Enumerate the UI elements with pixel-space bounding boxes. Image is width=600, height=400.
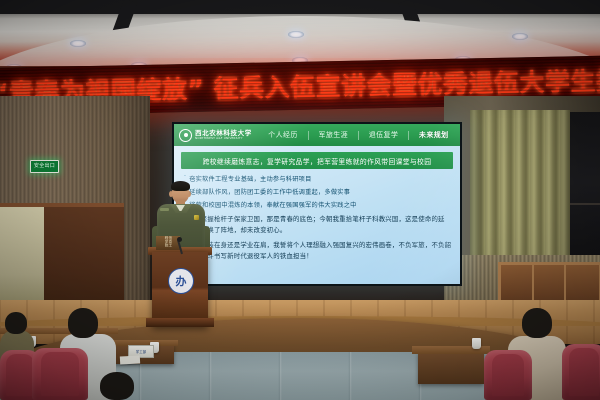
- auditorium-seat: [484, 350, 532, 400]
- ceiling-downlight-icon: [70, 40, 86, 47]
- list-item: · 将营和校园中混炼的本领，奉献在强国强军的伟大实践之中: [184, 200, 453, 209]
- slide-tab-return[interactable]: 退伍复学: [366, 130, 402, 140]
- nav-divider: [308, 131, 309, 140]
- nav-divider: [358, 131, 359, 140]
- speaker-rank-insignia: [160, 208, 169, 211]
- audience-member-head: [5, 312, 27, 334]
- slide-nav-items: 个人经历 军旅生涯 退伍复学 未来规划: [262, 130, 455, 140]
- podium-base: [146, 318, 214, 327]
- water-cup: [472, 338, 481, 349]
- podium-nameplate-text: 信息工程学院: [164, 236, 172, 250]
- list-item: · 夿实软件工程专业基础，主动参与科研项目: [184, 174, 453, 183]
- bullet-text: 延续部队作风，团防团工委的工作中低调重起，多做实事: [189, 187, 350, 196]
- slide-tab-personal[interactable]: 个人经历: [265, 130, 301, 140]
- list-item: · 延续部队作风，团防团工委的工作中低调重起，多做实事: [184, 187, 453, 196]
- slide-title: 跨校继续磨炼意志，复学研究品学，把军营里练就的作风带回课堂与校园: [181, 152, 453, 169]
- slide-paragraph-2: 无论是戎装在身还是学业在肩，我誓将个人理想融入强国复兴的宏伟画卷，不负军旅，不负…: [181, 240, 453, 261]
- slide-paragraph-1: 昔日我紧握枪杆子保家卫国，那是青春的底色；今朝我重拾笔杆子科教兴国，这是使命的延…: [181, 214, 453, 235]
- bullet-text: 夿实软件工程专业基础，主动参与科研项目: [189, 174, 311, 183]
- slide-content: 跨校继续磨炼意志，复学研究品学，把军营里练就的作风带回课堂与校园 · 夿实软件工…: [174, 146, 460, 261]
- university-seal-icon: [179, 129, 192, 142]
- projection-screen: 西北农林科技大学 NORTHWEST A&F UNIVERSITY 个人经历 军…: [172, 122, 462, 286]
- nav-divider: [408, 131, 409, 140]
- audience-member-head: [100, 372, 134, 400]
- emergency-exit-icon: 安全出口: [30, 160, 59, 173]
- ceiling-downlight-icon: [288, 31, 304, 38]
- desk-papers: [120, 355, 140, 364]
- podium-emblem-icon: 办: [168, 268, 194, 294]
- microphone-icon: [177, 237, 182, 242]
- exit-sign-label: 安全出口: [34, 164, 55, 169]
- bullet-text: 将营和校园中混炼的本领，奉献在强国强军的伟大实践之中: [189, 200, 356, 209]
- speaker-chest-badge: [194, 215, 199, 220]
- presentation-slide: 西北农林科技大学 NORTHWEST A&F UNIVERSITY 个人经历 军…: [174, 124, 460, 284]
- podium-emblem-glyph: 办: [176, 276, 187, 287]
- ceiling-downlight-icon: [512, 33, 528, 40]
- auditorium-seat: [32, 348, 88, 400]
- audience-member-head: [68, 308, 98, 338]
- speaker-hair: [171, 181, 190, 191]
- audience-member-head: [522, 308, 552, 338]
- ceiling-beam: [270, 0, 330, 10]
- slide-tab-military[interactable]: 军旅生涯: [315, 130, 351, 140]
- university-logo: 西北农林科技大学 NORTHWEST A&F UNIVERSITY: [179, 129, 252, 142]
- slide-bullet-list: · 夿实软件工程专业基础，主动参与科研项目 · 延续部队作风，团防团工委的工作中…: [181, 174, 453, 209]
- auditorium-photo: “青春为祖国绽放” 征兵入伍宣讲会暨优秀退伍大学生报告会 安全出口 西北农林科技…: [0, 0, 600, 400]
- audience-desk: [418, 352, 484, 384]
- logo-name-en: NORTHWEST A&F UNIVERSITY: [195, 137, 252, 140]
- auditorium-seat: [562, 344, 600, 400]
- desk-nameplate-text: 学工部: [136, 349, 146, 354]
- slide-nav-bar: 西北农林科技大学 NORTHWEST A&F UNIVERSITY 个人经历 军…: [174, 124, 460, 146]
- slide-tab-future[interactable]: 未来规划: [416, 130, 452, 140]
